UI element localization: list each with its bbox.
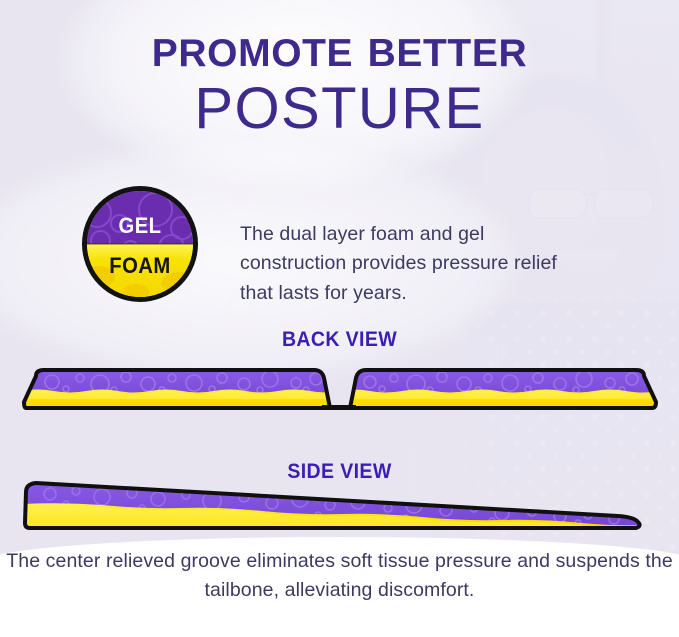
- gel-foam-badge: GEL FOAM: [82, 186, 198, 302]
- badge-gel-label: GEL: [91, 213, 189, 239]
- caption-text: The center relieved groove eliminates so…: [0, 547, 679, 606]
- center-relief-groove: [322, 405, 356, 410]
- side-view-diagram: [22, 478, 648, 540]
- foam-texture-blob: [123, 284, 149, 297]
- badge-divider: [87, 243, 193, 245]
- badge-foam-label: FOAM: [91, 253, 189, 279]
- headline-line-2: POSTURE: [0, 80, 679, 138]
- back-view-diagram: [22, 368, 658, 414]
- page-title: PROMOTE BETTER POSTURE: [0, 34, 679, 138]
- product-infographic: PROMOTE BETTER POSTURE GEL FOAM: [0, 0, 679, 637]
- headline-line-1: PROMOTE BETTER: [0, 34, 679, 73]
- back-view-label: BACK VIEW: [24, 328, 655, 352]
- intro-paragraph: The dual layer foam and gel construction…: [240, 220, 570, 309]
